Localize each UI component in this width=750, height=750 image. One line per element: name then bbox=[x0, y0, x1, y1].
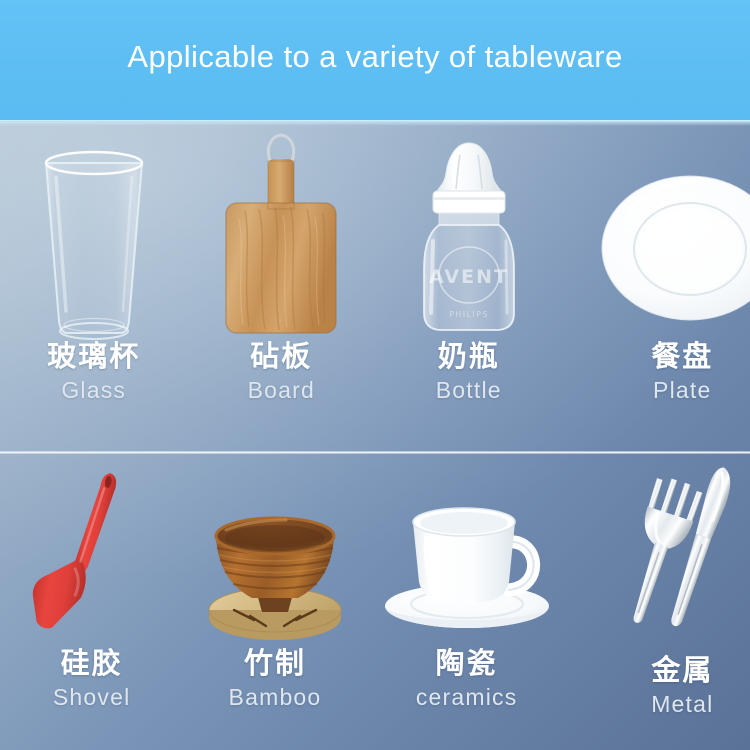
tableware-item-board[interactable]: 砧板 Board bbox=[188, 122, 376, 451]
drinking-glass-art bbox=[0, 122, 188, 341]
metal-cutlery-art bbox=[597, 454, 750, 655]
shovel-label-en: Shovel bbox=[0, 683, 183, 712]
tableware-infographic: Applicable to a variety of tableware bbox=[0, 0, 750, 750]
tableware-item-shovel[interactable]: 硅胶 Shovel bbox=[0, 454, 183, 750]
tableware-board: 玻璃杯 Glass bbox=[0, 122, 750, 750]
tableware-item-ceramics[interactable]: 陶瓷 ceramics bbox=[367, 454, 567, 750]
glass-label-en: Glass bbox=[0, 376, 188, 405]
ceramics-label-cn: 陶瓷 bbox=[367, 648, 567, 679]
shovel-labels: 硅胶 Shovel bbox=[0, 648, 183, 750]
metal-cutlery-icon bbox=[613, 454, 750, 629]
tableware-row-top: 玻璃杯 Glass bbox=[0, 122, 750, 451]
metal-label-en: Metal bbox=[591, 690, 750, 719]
shovel-label-cn: 硅胶 bbox=[0, 648, 183, 679]
glass-label-cn: 玻璃杯 bbox=[0, 341, 188, 372]
ceramic-cup-art bbox=[367, 454, 567, 648]
board-labels: 砧板 Board bbox=[188, 341, 376, 451]
drinking-glass-icon bbox=[30, 143, 158, 339]
svg-text:PHILIPS: PHILIPS bbox=[449, 310, 489, 319]
bamboo-label-en: Bamboo bbox=[183, 683, 366, 712]
metal-label-cn: 金属 bbox=[591, 655, 750, 686]
bottle-labels: 奶瓶 Bottle bbox=[375, 341, 563, 451]
bamboo-bowl-art bbox=[183, 454, 366, 648]
cutting-board-icon bbox=[215, 129, 347, 339]
ceramics-label-en: ceramics bbox=[367, 683, 567, 712]
plate-labels: 餐盘 Plate bbox=[589, 341, 750, 451]
plate-label-en: Plate bbox=[589, 376, 750, 405]
header-banner: Applicable to a variety of tableware bbox=[0, 0, 750, 122]
baby-bottle-icon: AVENT PHILIPS bbox=[412, 137, 526, 337]
tableware-item-glass[interactable]: 玻璃杯 Glass bbox=[0, 122, 188, 451]
bamboo-labels: 竹制 Bamboo bbox=[183, 648, 366, 750]
glass-labels: 玻璃杯 Glass bbox=[0, 341, 188, 451]
bamboo-bowl-icon bbox=[190, 498, 360, 638]
page-title: Applicable to a variety of tableware bbox=[127, 39, 622, 75]
bamboo-label-cn: 竹制 bbox=[183, 648, 366, 679]
cutting-board-art bbox=[188, 122, 376, 341]
tableware-item-plate[interactable]: 餐盘 Plate bbox=[563, 122, 750, 451]
silicone-spatula-icon bbox=[24, 462, 144, 642]
tableware-item-bottle[interactable]: AVENT PHILIPS 奶瓶 Bottle bbox=[375, 122, 563, 451]
ceramic-cup-icon bbox=[367, 494, 567, 634]
board-label-en: Board bbox=[188, 376, 376, 405]
metal-labels: 金属 Metal bbox=[591, 655, 750, 750]
plate-label-cn: 餐盘 bbox=[589, 341, 750, 372]
bottle-label-cn: 奶瓶 bbox=[375, 341, 563, 372]
bottle-label-en: Bottle bbox=[375, 376, 563, 405]
tableware-row-bottom: 硅胶 Shovel bbox=[0, 454, 750, 750]
board-label-cn: 砧板 bbox=[188, 341, 376, 372]
row-divider bbox=[0, 451, 750, 454]
dinner-plate-icon bbox=[600, 173, 750, 323]
ceramics-labels: 陶瓷 ceramics bbox=[367, 648, 567, 750]
silicone-spatula-art bbox=[0, 454, 175, 648]
svg-text:AVENT: AVENT bbox=[429, 266, 509, 288]
dinner-plate-art bbox=[597, 122, 750, 341]
baby-bottle-art: AVENT PHILIPS bbox=[375, 122, 563, 341]
tableware-item-metal[interactable]: 金属 Metal bbox=[567, 454, 750, 750]
tableware-item-bamboo[interactable]: 竹制 Bamboo bbox=[183, 454, 366, 750]
